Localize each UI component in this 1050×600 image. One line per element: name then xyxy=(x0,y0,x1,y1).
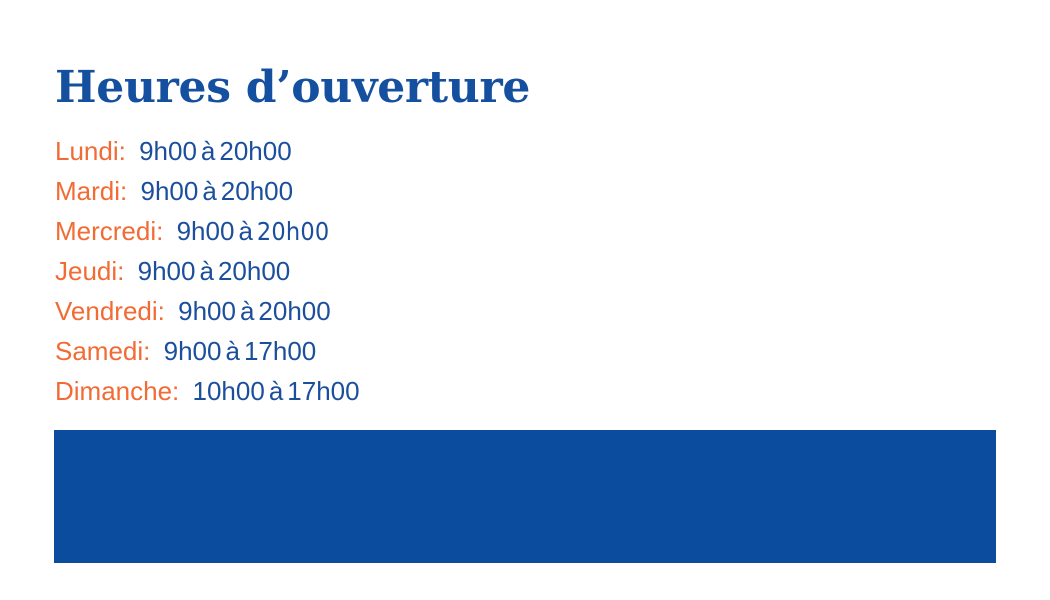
time-separator: à xyxy=(265,371,287,411)
day-label: Vendredi: xyxy=(55,296,165,326)
list-item: Mercredi: 9h00à20h00 xyxy=(55,211,360,251)
time-open: 9h00 xyxy=(164,336,222,366)
time-open: 9h00 xyxy=(140,176,198,206)
list-item: Jeudi: 9h00à20h00 xyxy=(55,251,360,291)
time-close: 17h00 xyxy=(244,336,316,366)
list-item: Mardi: 9h00à20h00 xyxy=(55,171,360,211)
footer-color-band xyxy=(54,430,996,563)
time-close: 20h00 xyxy=(257,217,329,246)
opening-hours-list: Lundi: 9h00à20h00 Mardi: 9h00à20h00 Merc… xyxy=(55,131,360,411)
time-open: 9h00 xyxy=(139,136,197,166)
day-label: Jeudi: xyxy=(55,256,124,286)
time-separator: à xyxy=(236,291,258,331)
time-separator: à xyxy=(198,171,220,211)
day-label: Lundi: xyxy=(55,136,126,166)
time-close: 20h00 xyxy=(258,296,330,326)
page-title: Heures d’ouverture xyxy=(55,62,530,114)
time-close: 20h00 xyxy=(221,176,293,206)
time-open: 10h00 xyxy=(193,376,265,406)
list-item: Dimanche: 10h00à17h00 xyxy=(55,371,360,411)
day-label: Mercredi: xyxy=(55,216,163,246)
time-open: 9h00 xyxy=(177,216,235,246)
time-range: 9h00à17h00 xyxy=(164,336,317,366)
time-separator: à xyxy=(221,331,243,371)
time-separator: à xyxy=(234,211,256,251)
time-close: 20h00 xyxy=(219,136,291,166)
time-separator: à xyxy=(195,251,217,291)
time-range: 9h00à20h00 xyxy=(139,136,292,166)
list-item: Vendredi: 9h00à20h00 xyxy=(55,291,360,331)
time-range: 9h00à20h00 xyxy=(138,256,291,286)
time-separator: à xyxy=(197,131,219,171)
day-label: Dimanche: xyxy=(55,376,179,406)
time-open: 9h00 xyxy=(178,296,236,326)
time-range: 10h00à17h00 xyxy=(193,376,360,406)
time-open: 9h00 xyxy=(138,256,196,286)
day-label: Mardi: xyxy=(55,176,127,206)
list-item: Samedi: 9h00à17h00 xyxy=(55,331,360,371)
list-item: Lundi: 9h00à20h00 xyxy=(55,131,360,171)
slide-canvas: Heures d’ouverture Lundi: 9h00à20h00 Mar… xyxy=(0,0,1050,600)
day-label: Samedi: xyxy=(55,336,150,366)
time-range: 9h00à20h00 xyxy=(177,216,330,246)
time-range: 9h00à20h00 xyxy=(178,296,331,326)
time-range: 9h00à20h00 xyxy=(140,176,293,206)
time-close: 20h00 xyxy=(218,256,290,286)
time-close: 17h00 xyxy=(287,376,359,406)
